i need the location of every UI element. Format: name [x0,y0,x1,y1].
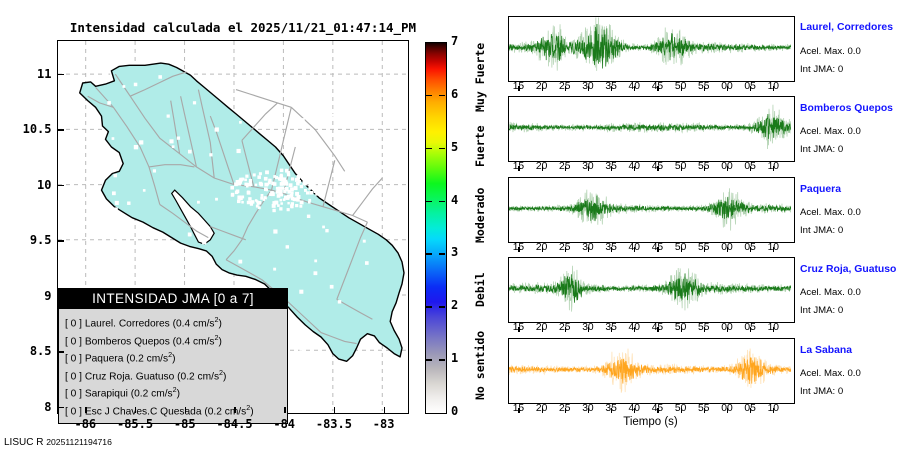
time-tick-label: 15 [508,322,528,333]
time-tick-label: 20 [532,242,552,253]
time-tick-label: 40 [624,81,644,92]
station-jma-intensity: Int JMA: 0 [800,305,843,316]
legend-level: [ 0 ] [65,318,82,329]
time-tick-label: 00 [717,322,737,333]
legend-entry: [ 0 ] Cruz Roja. Guatuso (0.2 cm/s2) [65,366,287,384]
time-tick-label: 25 [555,161,575,172]
colorbar-tick [426,148,432,149]
lat-tick-label: 8 [8,400,52,414]
time-tick-label: 05 [740,322,760,333]
time-tick-label: 45 [647,322,667,333]
lat-tick [58,240,64,241]
page-title: Intensidad calculada el 2025/11/21_01:47… [68,20,418,35]
lon-tick [185,407,186,413]
colorbar-category: Muy Fuerte [473,43,487,112]
time-tick-label: 45 [647,403,667,414]
lat-tick-label: 11 [8,67,52,81]
time-tick-label: 35 [601,161,621,172]
lon-tick [284,407,285,413]
colorbar-value: 7 [451,34,467,48]
legend-station: Cruz Roja. Guatuso [85,371,174,382]
station-name[interactable]: Paquera [800,184,841,195]
time-tick-label: 15 [508,403,528,414]
legend-title: INTENSIDAD JMA [0 a 7] [59,289,287,309]
time-tick-label: 25 [555,242,575,253]
seismogram-trace [509,339,791,400]
time-axis: 152025303540455055000510 [508,81,793,97]
time-tick-label: 30 [578,81,598,92]
colorbar-category: No sentido [473,331,487,400]
colorbar-value: 2 [451,298,467,312]
legend-accel: (0.4 cm/s [173,318,215,329]
station-max-acceleration: Acel. Max. 0.0 [800,368,861,379]
time-tick-label: 00 [717,242,737,253]
legend-level: [ 0 ] [65,354,82,365]
lat-tick-label: 9.5 [8,233,52,247]
colorbar-value: 0 [451,404,467,418]
colorbar-category: Moderado [473,187,487,242]
legend-station: Bomberos Quepos [85,336,170,347]
time-axis-label: Tiempo (s) [508,416,793,428]
legend-station: Laurel. Corredores [85,318,170,329]
time-tick-label: 30 [578,242,598,253]
station-name[interactable]: Laurel, Corredores [800,22,893,33]
lat-tick [58,296,64,297]
lat-tick-label: 10.5 [8,122,52,136]
time-tick-label: 40 [624,322,644,333]
station-max-acceleration: Acel. Max. 0.0 [800,126,861,137]
colorbar-tick [439,201,445,202]
legend-accel-close: ) [172,354,175,365]
colorbar-category: Fuerte [473,126,487,168]
time-tick-label: 05 [740,161,760,172]
seismogram-panel[interactable] [508,177,795,243]
legend-station: Sarapiqui [85,389,128,400]
time-axis: 152025303540455055000510 [508,161,793,177]
lon-tick [135,407,136,413]
station-name[interactable]: Bomberos Quepos [800,103,893,114]
colorbar-tick [426,253,432,254]
time-tick-label: 15 [508,161,528,172]
lon-tick [334,407,335,413]
station-jma-intensity: Int JMA: 0 [800,144,843,155]
legend-accel: (0.2 cm/s [126,354,168,365]
map-legend: INTENSIDAD JMA [0 a 7] [ 0 ] Laurel. Cor… [58,288,288,424]
seismogram-trace [509,178,791,239]
legend-level: [ 0 ] [65,371,82,382]
station-jma-intensity: Int JMA: 0 [800,386,843,397]
legend-level: [ 0 ] [65,336,82,347]
legend-entries: [ 0 ] Laurel. Corredores (0.4 cm/s2)[ 0 … [59,309,287,423]
colorbar-tick [426,95,432,96]
footer-credit: LISUC R 20251121194716 [4,437,112,448]
seismogram-panel[interactable] [508,257,795,323]
legend-entry: [ 0 ] Bomberos Quepos (0.4 cm/s2) [65,331,287,349]
colorbar-tick [426,359,432,360]
lat-tick [58,407,64,408]
colorbar-tick [439,253,445,254]
time-tick-label: 30 [578,161,598,172]
time-tick-label: 25 [555,403,575,414]
lat-tick-label: 8.5 [8,344,52,358]
time-tick-label: 30 [578,403,598,414]
time-tick-label: 05 [740,81,760,92]
time-tick-label: 30 [578,322,598,333]
time-tick-label: 50 [671,161,691,172]
time-tick-label: 05 [740,242,760,253]
station-max-acceleration: Acel. Max. 0.0 [800,287,861,298]
time-tick-label: 20 [532,322,552,333]
colorbar-category: Debil [473,273,487,308]
lat-tick [58,129,64,130]
time-axis: 152025303540455055000510 [508,242,793,258]
lat-tick [58,74,64,75]
colorbar-tick [439,359,445,360]
time-tick-label: 00 [717,161,737,172]
time-tick-label: 25 [555,81,575,92]
seismogram-trace [509,258,791,319]
time-tick-label: 35 [601,242,621,253]
legend-entry: [ 0 ] Laurel. Corredores (0.4 cm/s2) [65,313,287,331]
time-tick-label: 55 [694,322,714,333]
legend-station: Paquera [85,354,124,365]
time-tick-label: 15 [508,242,528,253]
station-jma-intensity: Int JMA: 0 [800,64,843,75]
lon-tick-label: -83 [354,417,414,431]
time-tick-label: 55 [694,403,714,414]
time-axis: 152025303540455055000510 [508,322,793,338]
colorbar-tick [426,201,432,202]
legend-accel: (0.2 cm/s [177,371,219,382]
time-tick-label: 50 [671,242,691,253]
time-tick-label: 40 [624,403,644,414]
legend-accel: (0.2 cm/s [131,389,173,400]
station-max-acceleration: Acel. Max. 0.0 [800,207,861,218]
time-tick-label: 20 [532,81,552,92]
time-tick-label: 10 [763,81,783,92]
legend-accel-close: ) [219,318,222,329]
legend-accel-close: ) [219,336,222,347]
colorbar-value: 4 [451,193,467,207]
time-tick-label: 55 [694,242,714,253]
colorbar-tick [439,148,445,149]
time-tick-label: 55 [694,81,714,92]
colorbar-value: 1 [451,351,467,365]
footer-agency: LISUC R [4,437,43,448]
colorbar-value: 5 [451,140,467,154]
legend-accel-close: ) [177,389,180,400]
lat-tick [58,185,64,186]
colorbar-value: 3 [451,245,467,259]
time-tick-label: 40 [624,242,644,253]
legend-entry: [ 0 ] Sarapiqui (0.2 cm/s2) [65,383,287,401]
time-tick-label: 35 [601,322,621,333]
time-tick-label: 10 [763,403,783,414]
lon-tick [384,407,385,413]
colorbar-tick [426,306,432,307]
time-tick-label: 00 [717,81,737,92]
seismogram-trace [509,17,791,78]
time-tick-label: 00 [717,403,737,414]
seismogram-panel[interactable] [508,96,795,162]
time-tick-label: 45 [647,242,667,253]
lon-tick [85,407,86,413]
station-name[interactable]: La Sabana [800,345,852,356]
legend-level: [ 0 ] [65,389,82,400]
lat-tick [58,351,64,352]
time-tick-label: 25 [555,322,575,333]
footer-code: 20251121194716 [46,437,112,447]
time-tick-label: 50 [671,322,691,333]
seismogram-panel[interactable] [508,338,795,404]
lat-tick-label: 10 [8,178,52,192]
legend-accel: (0.4 cm/s [173,336,215,347]
legend-entry: [ 0 ] Paquera (0.2 cm/s2) [65,348,287,366]
time-tick-label: 40 [624,161,644,172]
lon-tick [234,407,235,413]
colorbar-value: 6 [451,87,467,101]
colorbar-tick [439,95,445,96]
legend-accel-close: ) [223,371,226,382]
time-tick-label: 05 [740,403,760,414]
station-name[interactable]: Cruz Roja, Guatuso [800,264,896,275]
time-tick-label: 15 [508,81,528,92]
station-jma-intensity: Int JMA: 0 [800,225,843,236]
time-tick-label: 50 [671,403,691,414]
time-tick-label: 55 [694,161,714,172]
time-tick-label: 45 [647,161,667,172]
colorbar-tick [439,306,445,307]
time-tick-label: 35 [601,81,621,92]
time-tick-label: 50 [671,81,691,92]
time-tick-label: 20 [532,403,552,414]
time-tick-label: 10 [763,322,783,333]
time-tick-label: 45 [647,81,667,92]
station-max-acceleration: Acel. Max. 0.0 [800,46,861,57]
time-tick-label: 35 [601,403,621,414]
lat-tick-label: 9 [8,289,52,303]
seismogram-panel[interactable] [508,16,795,82]
time-tick-label: 20 [532,161,552,172]
time-tick-label: 10 [763,161,783,172]
seismogram-trace [509,97,791,158]
time-tick-label: 10 [763,242,783,253]
